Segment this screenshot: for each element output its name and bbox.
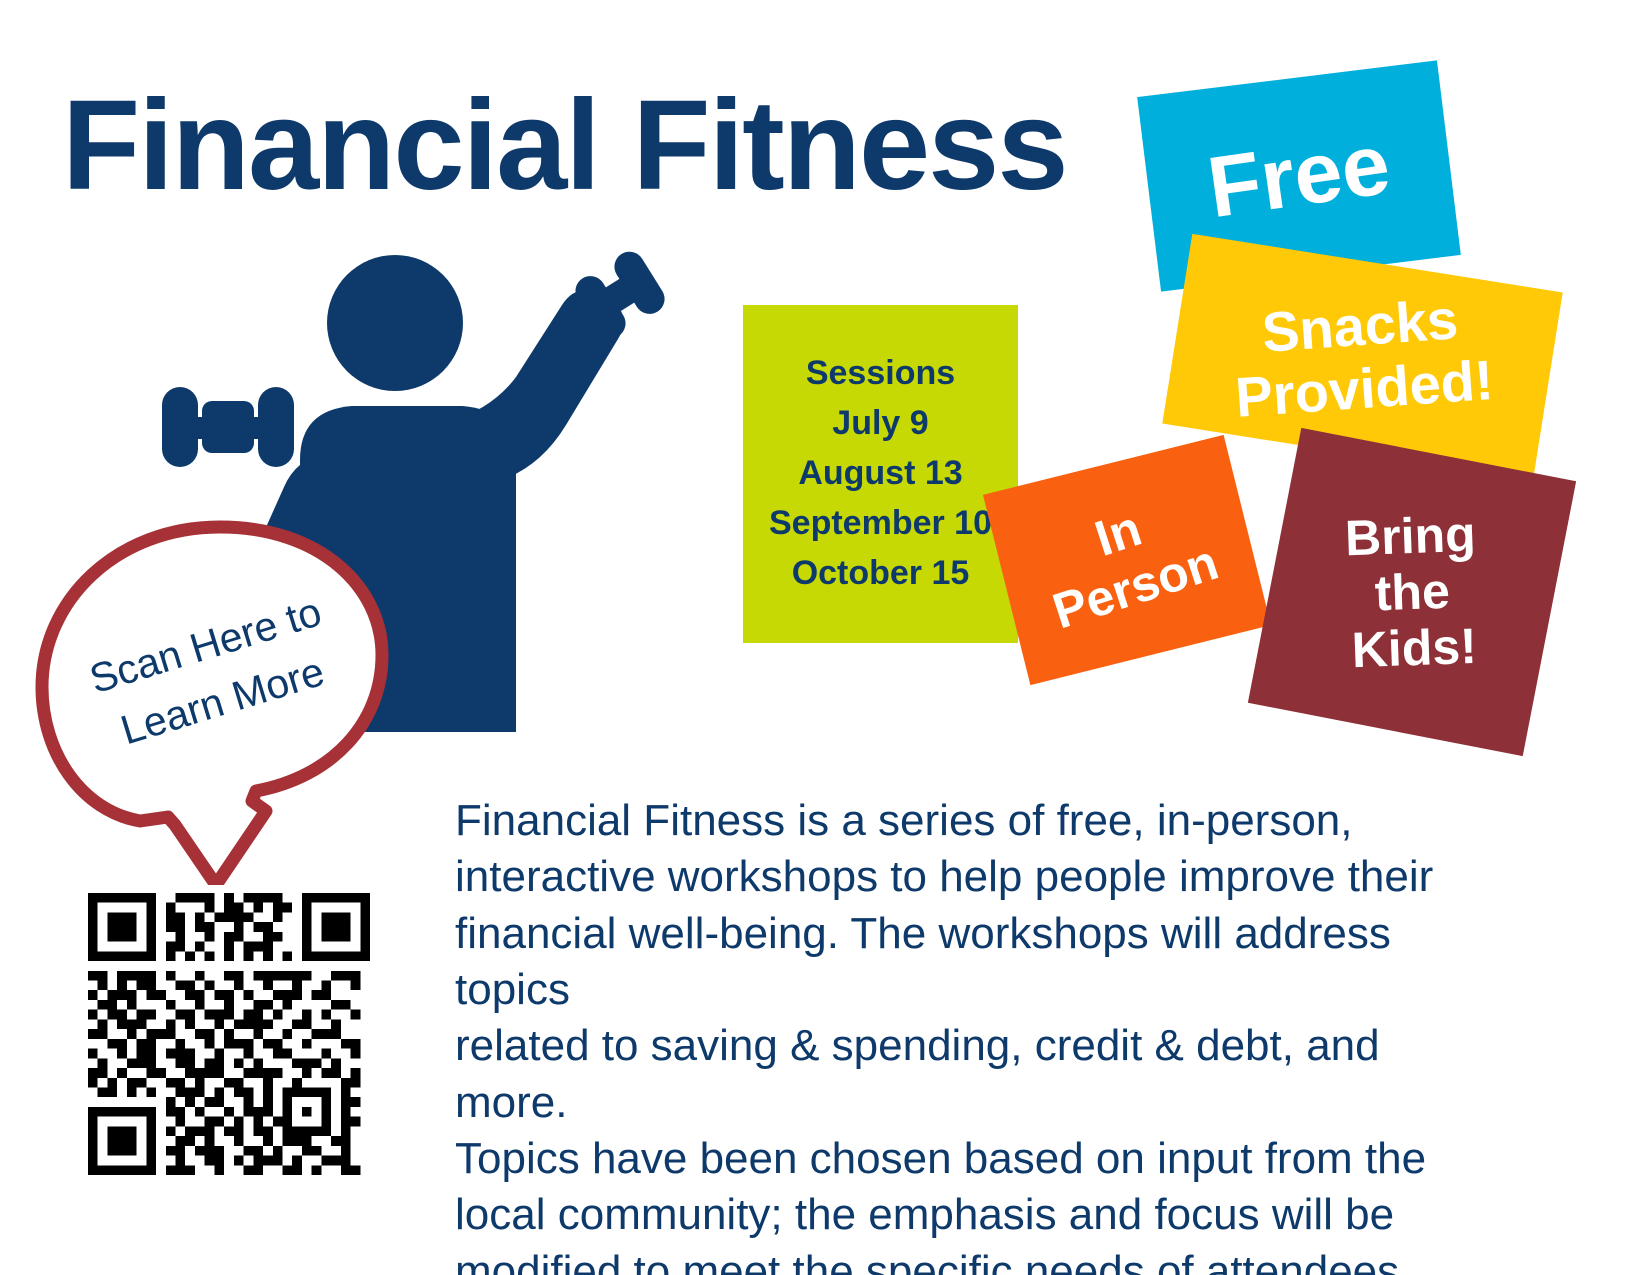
description-line: Topics have been chosen based on input f… [455,1131,1485,1187]
description-line: interactive workshops to help people imp… [455,849,1485,905]
session-date: September 10 [769,499,992,549]
description-line: related to saving & spending, credit & d… [455,1018,1485,1131]
badge-kids-line2: the [1374,563,1451,622]
session-date: August 13 [798,449,962,499]
description-paragraph: Financial Fitness is a series of free, i… [455,793,1485,1275]
badge-free-label: Free [1202,116,1395,237]
page-title: Financial Fitness [62,82,1067,210]
qr-code-icon[interactable] [88,893,370,1175]
badge-in-person-label: In Person [1029,481,1225,640]
badge-bring-the-kids-label: Bring the Kids! [1344,506,1480,678]
badge-bring-the-kids: Bring the Kids! [1248,428,1576,756]
speech-bubble: Scan Here to Learn More [20,495,420,885]
badge-snacks-label: Snacks Provided! [1229,286,1495,429]
description-line: Financial Fitness is a series of free, i… [455,793,1485,849]
description-line: modified to meet the specific needs of a… [455,1244,1485,1275]
badge-in-person: In Person [983,435,1271,685]
badge-kids-line3: Kids! [1350,618,1477,678]
description-line: local community; the emphasis and focus … [455,1187,1485,1243]
sessions-heading: Sessions [806,349,955,399]
poster-canvas: Financial Fitness [0,0,1650,1275]
session-date: October 15 [792,549,970,599]
badge-kids-line1: Bring [1344,506,1476,567]
session-date: July 9 [832,399,928,449]
description-line: financial well-being. The workshops will… [455,906,1485,1019]
sessions-box: Sessions July 9 August 13 September 10 O… [743,305,1018,643]
